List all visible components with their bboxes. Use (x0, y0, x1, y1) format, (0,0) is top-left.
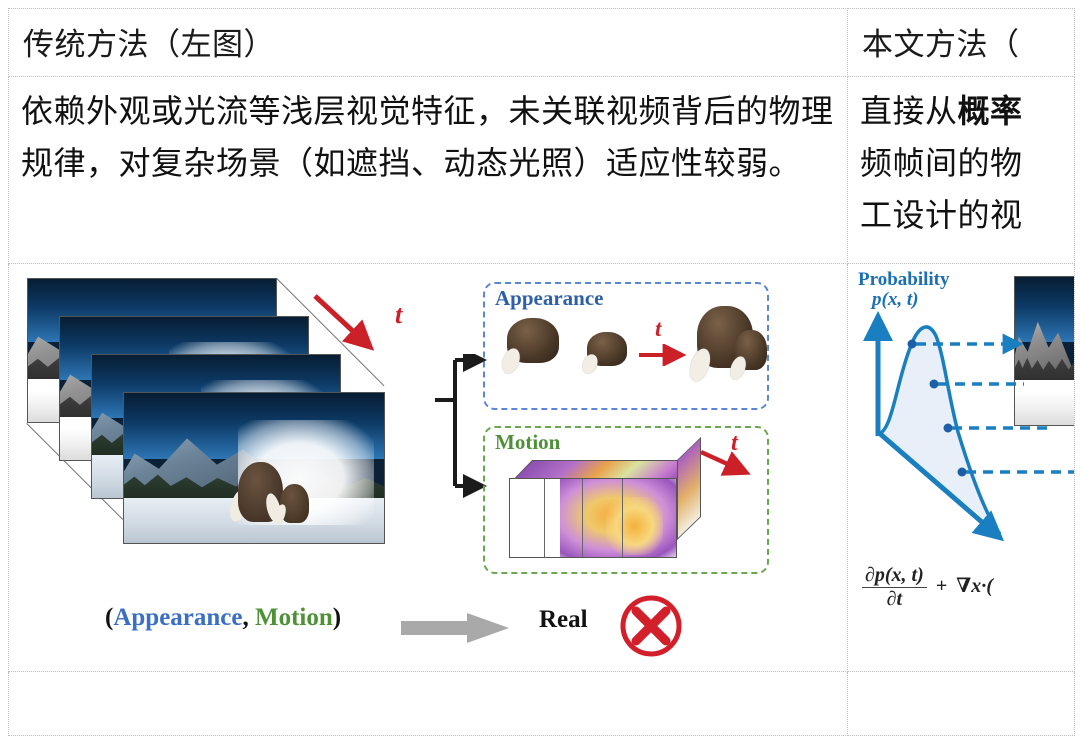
motion-time-arrow-icon (697, 446, 759, 480)
equation-plus: + (932, 575, 951, 597)
column-header-ours: 本文方法（ (848, 9, 1074, 64)
tuple-appearance: Appearance (113, 604, 242, 631)
flow-slice-divider (622, 479, 623, 557)
table-empty-row (9, 671, 1075, 735)
paragraph-ours-line1-plain: 直接从 (860, 92, 958, 130)
thick-arrow-icon (401, 612, 513, 644)
figure-cell-right: Probability p(x, t) (848, 263, 1075, 671)
tuple-comma: , (242, 604, 255, 631)
traditional-pipeline-figure: t Appe (9, 264, 847, 670)
flow-slice-divider (582, 479, 583, 557)
paragraph-ours: 直接从概率 频帧间的物 工设计的视 (848, 77, 1074, 241)
conclusion-tuple: (Appearance, Motion) (105, 604, 341, 632)
empty-cell-right (848, 671, 1075, 735)
appearance-time-arrow-icon (637, 344, 691, 366)
result-label: Real (539, 606, 588, 634)
table-figure-row: t Appe (9, 263, 1075, 671)
equation-denominator: ∂t (862, 588, 927, 611)
conclusion-row: (Appearance, Motion) Real (9, 594, 709, 654)
header-cell-right: 本文方法（ (848, 9, 1075, 77)
appearance-box: Appearance t (483, 282, 769, 410)
appearance-mammoth-1 (507, 318, 559, 376)
paragraph-ours-line2: 频帧间的物 (860, 144, 1023, 182)
time-arrow-icon (309, 288, 393, 360)
continuity-equation: ∂p(x, t) ∂t + ∇x·( (862, 564, 1074, 611)
paragraph-cell-left: 依赖外观或光流等浅层视觉特征，未关联视频背后的物理规律，对复杂场景（如遮挡、动态… (9, 77, 848, 264)
paragraph-ours-line1-bold: 概率 (958, 92, 1023, 130)
tuple-close-paren: ) (333, 604, 341, 631)
paragraph-traditional: 依赖外观或光流等浅层视觉特征，未关联视频背后的物理规律，对复杂场景（如遮挡、动态… (9, 77, 847, 189)
video-frame-4 (123, 392, 385, 544)
paragraph-ours-line3: 工设计的视 (860, 196, 1023, 234)
appearance-mammoth-2 (587, 332, 627, 376)
figure-cell-left: t Appe (9, 263, 848, 671)
equation-numerator: ∂p(x, t) (862, 564, 927, 588)
probability-figure: Probability p(x, t) (848, 264, 1074, 670)
equation-fraction: ∂p(x, t) ∂t (862, 564, 927, 611)
sample-marker (944, 423, 953, 432)
paragraph-cell-right: 直接从概率 频帧间的物 工设计的视 (848, 77, 1075, 264)
comparison-table: 传统方法（左图） 本文方法（ 依赖外观或光流等浅层视觉特征，未关联视频背后的物理… (8, 8, 1075, 736)
circled-x-icon (617, 592, 685, 660)
column-header-traditional: 传统方法（左图） (9, 9, 847, 64)
comparison-table-sheet: 传统方法（左图） 本文方法（ 依赖外观或光流等浅层视觉特征，未关联视频背后的物理… (8, 8, 1072, 736)
motion-time-symbol: t (731, 430, 738, 457)
table-header-row: 传统方法（左图） 本文方法（ (9, 9, 1075, 77)
header-cell-left: 传统方法（左图） (9, 9, 848, 77)
probability-plot (848, 264, 1074, 594)
flow-field (510, 479, 676, 557)
flow-slice-divider (544, 479, 545, 557)
flow-volume-front (509, 478, 677, 558)
tuple-motion: Motion (255, 604, 333, 631)
motion-box-title: Motion (495, 430, 560, 455)
appearance-time-symbol: t (655, 316, 661, 342)
sample-marker (930, 379, 939, 388)
table-paragraph-row: 依赖外观或光流等浅层视觉特征，未关联视频背后的物理规律，对复杂场景（如遮挡、动态… (9, 77, 1075, 264)
appearance-mammoth-4 (735, 330, 767, 382)
sample-marker (958, 467, 967, 476)
optical-flow-volume (509, 460, 727, 564)
appearance-box-title: Appearance (495, 286, 604, 311)
empty-cell-left (9, 671, 848, 735)
sample-marker (908, 339, 917, 348)
flow-blob-secondary (606, 497, 662, 555)
time-symbol-frames: t (395, 300, 402, 330)
equation-tail: ∇x·( (956, 575, 993, 597)
